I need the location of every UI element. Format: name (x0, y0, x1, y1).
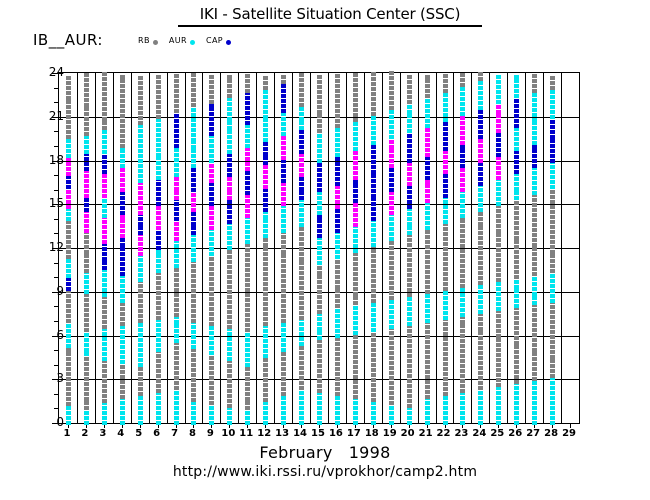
data-point (478, 366, 483, 370)
data-point (514, 160, 519, 164)
data-point (227, 320, 232, 324)
data-point (209, 112, 214, 116)
data-point (263, 329, 268, 333)
data-point (496, 233, 501, 237)
data-point (299, 227, 304, 231)
y-axis-tick-minor (54, 263, 59, 264)
data-point (174, 74, 179, 78)
data-point (443, 232, 448, 236)
data-point (317, 234, 322, 238)
gridline-vertical (292, 73, 293, 423)
data-point (532, 411, 537, 415)
data-point (245, 253, 250, 257)
data-point (478, 276, 483, 280)
data-point (227, 153, 232, 157)
data-point (174, 168, 179, 172)
data-point (227, 250, 232, 254)
data-point (156, 138, 161, 142)
data-point (353, 83, 358, 87)
data-point (478, 295, 483, 299)
data-point (191, 164, 196, 168)
data-point (317, 105, 322, 109)
data-point (174, 139, 179, 143)
data-point (102, 170, 107, 174)
data-point (550, 320, 555, 324)
data-point (102, 421, 107, 425)
data-point (191, 226, 196, 230)
data-point (245, 367, 250, 371)
data-point (156, 123, 161, 127)
data-point (120, 149, 125, 153)
data-point (317, 317, 322, 321)
data-point (371, 259, 376, 263)
data-point (263, 252, 268, 256)
data-point (371, 299, 376, 303)
data-point (496, 143, 501, 147)
data-point (191, 243, 196, 247)
data-point (245, 89, 250, 93)
data-point (263, 128, 268, 132)
data-point (407, 278, 412, 282)
data-point (245, 353, 250, 357)
data-point (460, 284, 465, 288)
data-point (174, 391, 179, 395)
data-point (281, 187, 286, 191)
data-point (66, 329, 71, 333)
data-point (138, 396, 143, 400)
data-point (281, 136, 286, 140)
data-point (496, 166, 501, 170)
data-point (407, 80, 412, 84)
data-point (84, 264, 89, 268)
data-point (263, 133, 268, 137)
data-point (263, 272, 268, 276)
data-point (66, 144, 71, 148)
data-point (496, 187, 501, 191)
chart-legend: RBAURCAP (138, 33, 231, 49)
data-point (550, 391, 555, 395)
data-point (263, 123, 268, 127)
data-point (550, 215, 555, 219)
data-point (532, 79, 537, 83)
data-point (84, 112, 89, 116)
data-point (102, 189, 107, 193)
data-point (478, 346, 483, 350)
data-point (120, 224, 125, 228)
data-point (335, 387, 340, 391)
data-point (460, 259, 465, 263)
data-point (209, 237, 214, 241)
data-point (371, 179, 376, 183)
data-point (281, 169, 286, 173)
data-point (209, 154, 214, 158)
data-point (335, 148, 340, 152)
data-point (66, 230, 71, 234)
data-point (425, 194, 430, 198)
data-point (478, 167, 483, 171)
data-point (371, 107, 376, 111)
data-point (227, 275, 232, 279)
data-point (263, 322, 268, 326)
data-point (317, 389, 322, 393)
data-point (532, 93, 537, 97)
data-point (335, 421, 340, 425)
data-point (263, 198, 268, 202)
data-point (102, 235, 107, 239)
data-point (443, 132, 448, 136)
data-point (299, 150, 304, 154)
data-point (174, 329, 179, 333)
data-point (353, 78, 358, 82)
data-point (460, 379, 465, 383)
data-point (156, 197, 161, 201)
data-point (138, 149, 143, 153)
data-point (425, 265, 430, 269)
data-point (281, 219, 286, 223)
data-point (156, 246, 161, 250)
data-point (209, 391, 214, 395)
data-point (209, 292, 214, 296)
data-point (460, 199, 465, 203)
data-point (317, 219, 322, 223)
data-point (389, 266, 394, 270)
data-point (532, 386, 537, 390)
data-point (84, 397, 89, 401)
data-point (407, 258, 412, 262)
data-point (407, 139, 412, 143)
data-point (532, 282, 537, 286)
data-point (281, 141, 286, 145)
legend-label: AUR (169, 36, 187, 46)
data-point (227, 342, 232, 346)
data-point (245, 288, 250, 292)
data-point (138, 186, 143, 190)
data-point (478, 120, 483, 124)
data-point (496, 358, 501, 362)
data-point (425, 89, 430, 93)
data-point (227, 121, 232, 125)
data-point (299, 168, 304, 172)
data-point (478, 341, 483, 345)
data-point (460, 173, 465, 177)
data-point (532, 164, 537, 168)
gridline-vertical (167, 73, 168, 423)
data-point (443, 387, 448, 391)
data-point (514, 391, 519, 395)
data-point (371, 373, 376, 377)
data-point (317, 369, 322, 373)
data-point (514, 104, 519, 108)
data-point (443, 347, 448, 351)
data-point (156, 105, 161, 109)
data-point (496, 268, 501, 272)
data-point (478, 212, 483, 216)
data-point (496, 292, 501, 296)
data-point (281, 328, 286, 332)
data-point (425, 94, 430, 98)
data-point (299, 107, 304, 111)
data-point (496, 343, 501, 347)
data-point (371, 416, 376, 420)
data-point (460, 293, 465, 297)
data-point (514, 375, 519, 379)
data-point (514, 326, 519, 330)
data-point (120, 350, 125, 354)
data-point (66, 250, 71, 254)
data-point (191, 258, 196, 262)
data-point (191, 128, 196, 132)
data-point (138, 191, 143, 195)
data-point (120, 307, 125, 311)
data-point (353, 108, 358, 112)
data-point (281, 421, 286, 425)
data-point (191, 217, 196, 221)
data-point (299, 266, 304, 270)
data-point (371, 383, 376, 387)
data-point (443, 220, 448, 224)
data-point (317, 401, 322, 405)
data-point (353, 132, 358, 136)
data-point (496, 391, 501, 395)
data-point (460, 329, 465, 333)
data-point (353, 370, 358, 374)
data-point (66, 110, 71, 114)
data-point (227, 241, 232, 245)
data-point (335, 229, 340, 233)
data-point (317, 154, 322, 158)
data-point (496, 209, 501, 213)
data-point (425, 184, 430, 188)
data-point (299, 163, 304, 167)
data-point (443, 170, 448, 174)
data-point (478, 96, 483, 100)
data-point (371, 131, 376, 135)
data-point (496, 406, 501, 410)
data-point (138, 348, 143, 352)
y-axis-tick-minor (54, 190, 59, 191)
gridline-vertical (256, 73, 257, 423)
data-point (138, 174, 143, 178)
data-point (281, 159, 286, 163)
data-point (550, 401, 555, 405)
data-point (550, 264, 555, 268)
data-point (227, 158, 232, 162)
data-point (514, 170, 519, 174)
data-point (299, 342, 304, 346)
data-point (425, 325, 430, 329)
data-point (353, 365, 358, 369)
data-point (281, 197, 286, 201)
data-point (532, 262, 537, 266)
data-point (514, 421, 519, 425)
data-point (460, 164, 465, 168)
data-point (66, 372, 71, 376)
data-point (263, 398, 268, 402)
data-point (389, 366, 394, 370)
data-point (138, 159, 143, 163)
data-point (209, 247, 214, 251)
y-axis-tick-label: 21 (38, 110, 64, 122)
data-point (496, 90, 501, 94)
data-point (245, 181, 250, 185)
data-point (263, 185, 268, 189)
data-point (389, 246, 394, 250)
data-point (138, 211, 143, 215)
data-point (514, 201, 519, 205)
data-point (191, 108, 196, 112)
data-point (191, 309, 196, 313)
data-point (496, 396, 501, 400)
data-point (209, 326, 214, 330)
data-point (478, 130, 483, 134)
data-point (209, 174, 214, 178)
data-point (174, 79, 179, 83)
data-point (156, 206, 161, 210)
data-point (443, 179, 448, 183)
data-point (317, 215, 322, 219)
data-point (156, 374, 161, 378)
data-point (299, 346, 304, 350)
data-point (120, 284, 125, 288)
data-point (263, 373, 268, 377)
data-point (174, 202, 179, 206)
data-point (353, 262, 358, 266)
data-point (299, 381, 304, 385)
data-point (478, 106, 483, 110)
data-point (407, 268, 412, 272)
data-point (550, 274, 555, 278)
data-point (156, 338, 161, 342)
data-point (460, 269, 465, 273)
data-point (174, 351, 179, 355)
data-point (263, 105, 268, 109)
data-point (532, 308, 537, 312)
data-point (174, 259, 179, 263)
data-point (84, 280, 89, 284)
data-point (353, 311, 358, 315)
data-point (263, 344, 268, 348)
data-point (281, 104, 286, 108)
data-point (209, 216, 214, 220)
data-point (514, 226, 519, 230)
data-point (371, 160, 376, 164)
data-point (389, 416, 394, 420)
data-point (102, 332, 107, 336)
data-point (245, 338, 250, 342)
data-point (443, 103, 448, 107)
data-point (335, 190, 340, 194)
gridline-vertical (95, 73, 96, 423)
data-point (209, 232, 214, 236)
data-point (156, 301, 161, 305)
data-point (478, 331, 483, 335)
data-point (102, 240, 107, 244)
data-point (389, 315, 394, 319)
data-point (191, 93, 196, 97)
data-point (174, 268, 179, 272)
data-point (120, 302, 125, 306)
data-point (443, 337, 448, 341)
data-point (389, 91, 394, 95)
data-point (209, 164, 214, 168)
gridline-vertical (382, 73, 383, 423)
data-point (174, 273, 179, 277)
data-point (138, 101, 143, 105)
legend-dot-icon (190, 40, 195, 45)
data-point (263, 334, 268, 338)
data-point (84, 214, 89, 218)
y-axis-title: Universal time (hours) (0, 0, 1, 323)
data-point (443, 277, 448, 281)
data-point (353, 316, 358, 320)
data-point (353, 301, 358, 305)
data-point (389, 191, 394, 195)
data-point (66, 362, 71, 366)
data-point (263, 203, 268, 207)
data-point (299, 117, 304, 121)
data-point (389, 183, 394, 187)
data-point (407, 421, 412, 425)
data-point (532, 267, 537, 271)
data-point (281, 151, 286, 155)
data-point (84, 290, 89, 294)
data-point (191, 188, 196, 192)
data-point (496, 202, 501, 206)
data-point (371, 233, 376, 237)
data-point (317, 251, 322, 255)
data-point (84, 189, 89, 193)
data-point (514, 336, 519, 340)
data-point (174, 293, 179, 297)
data-point (227, 163, 232, 167)
data-point (263, 215, 268, 219)
data-point (496, 263, 501, 267)
data-point (335, 401, 340, 405)
data-point (353, 122, 358, 126)
data-point (263, 243, 268, 247)
data-point (550, 165, 555, 169)
data-point (460, 254, 465, 258)
y-axis-tick-minor (54, 219, 59, 220)
data-point (317, 416, 322, 420)
data-point (227, 246, 232, 250)
data-point (353, 326, 358, 330)
data-point (550, 125, 555, 129)
data-point (281, 304, 286, 308)
data-point (550, 81, 555, 85)
data-point (227, 310, 232, 314)
data-point (371, 328, 376, 332)
data-point (227, 270, 232, 274)
data-point (138, 284, 143, 288)
data-point (299, 182, 304, 186)
data-point (174, 237, 179, 241)
data-point (317, 271, 322, 275)
data-point (425, 299, 430, 303)
data-point (335, 324, 340, 328)
data-point (263, 180, 268, 184)
data-point (102, 107, 107, 111)
data-point (389, 237, 394, 241)
data-point (317, 344, 322, 348)
data-point (425, 75, 430, 79)
data-point (174, 320, 179, 324)
data-point (371, 378, 376, 382)
data-point (317, 178, 322, 182)
data-point (281, 269, 286, 273)
data-point (514, 84, 519, 88)
data-point (84, 275, 89, 279)
